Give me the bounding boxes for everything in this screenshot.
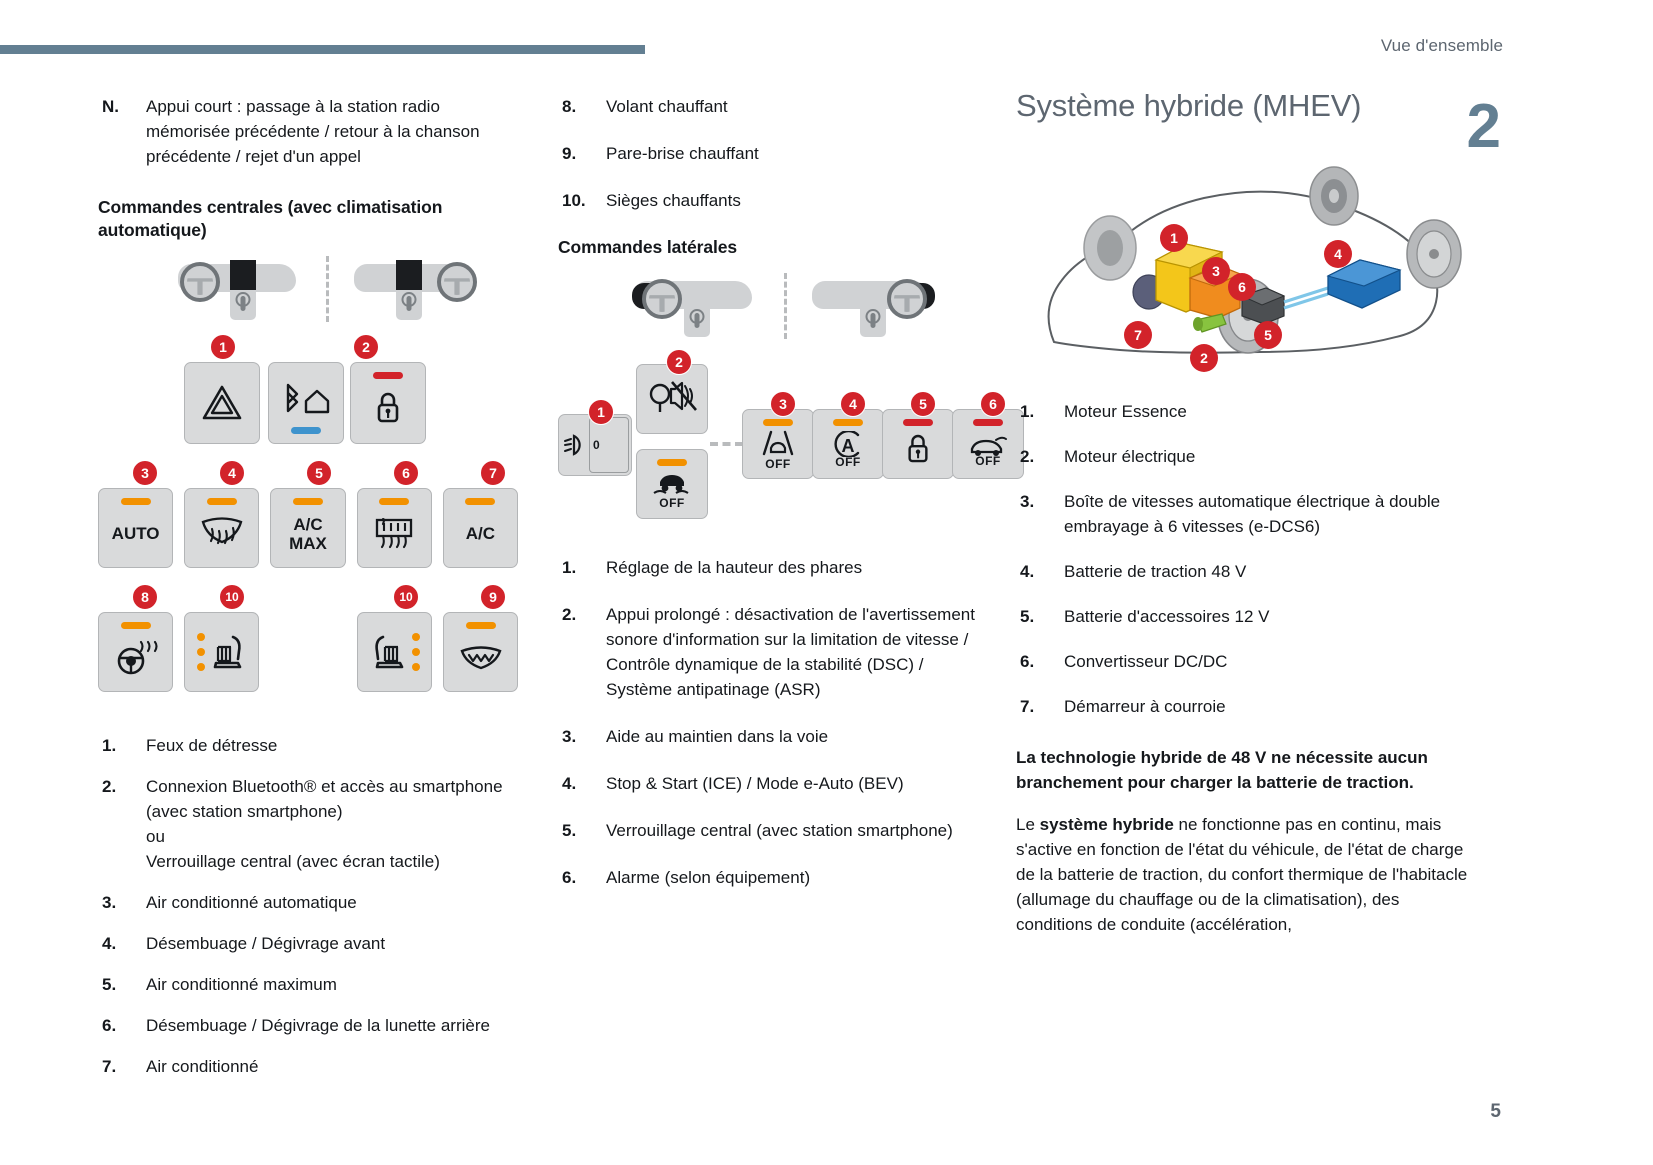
item-text: Démarreur à courroie [1064,695,1471,720]
list-item: 3.Boîte de vitesses automatique électriq… [1016,490,1471,540]
item-text: Batterie de traction 48 V [1064,560,1471,585]
list-item: 1.Feux de détresse [98,734,518,759]
item-text: Boîte de vitesses automatique électrique… [1064,490,1471,540]
seat-level-leds [197,633,205,671]
list-item: 4.Batterie de traction 48 V [1016,560,1471,585]
column-left: N. Appui court : passage à la station ra… [98,95,518,1096]
item-number: 1. [98,734,146,759]
button-led-orange [379,498,409,505]
item-text: Appui prolongé : désactivation de l'aver… [606,603,983,703]
header-accent-bar [0,45,645,54]
central-buttons-row-2: 3 AUTO 4 5 A/CMAX 6 [98,460,518,568]
item-text: Pare-brise chauffant [606,142,983,167]
button-led-orange [763,419,793,426]
item-number: 8. [558,95,606,120]
callout-8: 8 [132,584,158,610]
stop-start-off-icon: A [831,431,865,457]
item-number: 9. [558,142,606,167]
item-number: 4. [1016,560,1064,585]
item-text: Désembuage / Dégivrage de la lunette arr… [146,1014,518,1039]
item-text: Volant chauffant [606,95,983,120]
central-buttons-row-1: 1 2 [184,334,518,444]
button-led-blue [291,427,321,434]
callout-6: 6 [980,391,1006,417]
column-right: Système hybride (MHEV) [1016,88,1471,938]
callout-1: 1 [588,399,614,425]
item-number: 1. [1016,400,1064,425]
item-text: Stop & Start (ICE) / Mode e-Auto (BEV) [606,772,983,797]
ac-label: A/C [466,525,495,542]
header-section-title: Vue d'ensemble [1381,36,1503,56]
callout-3: 3 [132,460,158,486]
heated-steering-wheel-button[interactable] [98,612,173,692]
ac-button[interactable]: A/C [443,488,518,568]
list-item: 5.Air conditionné maximum [98,973,518,998]
list-item: 1.Réglage de la hauteur des phares [558,556,983,581]
speed-limit-warning-mute-button[interactable] [636,364,708,434]
callout-2: 2 [353,334,379,360]
continued-lettered-item: N. Appui court : passage à la station ra… [98,95,518,170]
list-item: 5.Batterie d'accessoires 12 V [1016,605,1471,630]
item-text: Réglage de la hauteur des phares [606,556,983,581]
item-number: 3. [98,891,146,916]
svg-text:A: A [842,436,855,456]
item-marker: N. [98,95,146,170]
callout-3: 3 [770,391,796,417]
callout-5: 5 [910,391,936,417]
list-item: 5.Verrouillage central (avec station sma… [558,819,983,844]
item-number: 2. [558,603,606,703]
callout-4: 4 [219,460,245,486]
svg-text:2: 2 [1200,350,1208,366]
list-item: 7.Démarreur à courroie [1016,695,1471,720]
item-text: Moteur Essence [1064,400,1471,425]
callout-10-left: 10 [219,584,245,610]
list-item: 4.Stop & Start (ICE) / Mode e-Auto (BEV) [558,772,983,797]
chapter-number: 2 [1467,96,1501,158]
item-number: 6. [98,1014,146,1039]
item-number: 2. [1016,445,1064,470]
off-label: OFF [765,457,791,471]
callout-9: 9 [480,584,506,610]
item-text: Air conditionné [146,1055,518,1080]
manual-page: Vue d'ensemble 2 5 N. Appui court : pass… [0,0,1653,1165]
headlamp-height-adjust-icon [563,431,591,459]
column-middle: 8.Volant chauffant 9.Pare-brise chauffan… [558,95,983,913]
item-text: Batterie d'accessoires 12 V [1064,605,1471,630]
callout-5: 5 [306,460,332,486]
callout-6: 6 [393,460,419,486]
hybrid-highlight-paragraph: La technologie hybride de 48 V ne nécess… [1016,746,1471,796]
item-number: 5. [98,973,146,998]
list-item: 9.Pare-brise chauffant [558,142,983,167]
list-item: 2.Connexion Bluetooth® et accès au smart… [98,775,518,875]
heated-windscreen-button[interactable] [443,612,518,692]
item-number: 3. [558,725,606,750]
seat-level-leds [412,633,420,671]
button-led-red [373,372,403,379]
list-item: 6.Désembuage / Dégivrage de la lunette a… [98,1014,518,1039]
item-number: 5. [1016,605,1064,630]
side-controls-legend-list: 1.Réglage de la hauteur des phares 2.App… [558,556,983,891]
heated-seat-right-icon [370,633,408,671]
callout-1: 1 [210,334,236,360]
svg-text:4: 4 [1334,246,1342,262]
item-number: 4. [558,772,606,797]
item-number: 4. [98,932,146,957]
para-bold-term: système hybride [1040,815,1174,834]
ac-max-label: A/CMAX [289,515,327,553]
item-number: 3. [1016,490,1064,540]
central-locking-button-side[interactable] [882,409,954,479]
item-text: Air conditionné automatique [146,891,518,916]
item-number: 10. [558,189,606,214]
page-number: 5 [1490,1101,1501,1123]
dsc-asr-off-button[interactable]: OFF [636,449,708,519]
list-item: 6.Convertisseur DC/DC [1016,650,1471,675]
hazard-warning-button[interactable] [184,362,260,444]
list-item: 3.Aide au maintien dans la voie [558,725,983,750]
central-locking-icon [905,433,931,465]
lhd-dashboard-icon [632,277,757,339]
button-led-orange [466,622,496,629]
button-led-red [903,419,933,426]
para-part-1: Le [1016,815,1040,834]
heated-seat-left-button[interactable] [184,612,259,692]
list-item: 7.Air conditionné [98,1055,518,1080]
item-text: Verrouillage central (avec station smart… [606,819,983,844]
item-text: Alarme (selon équipement) [606,866,983,891]
item-text: Moteur électrique [1064,445,1471,470]
button-led-orange [293,498,323,505]
item-number: 7. [1016,695,1064,720]
bluetooth-smartphone-button[interactable] [268,362,344,444]
list-item: 1.Moteur Essence [1016,400,1471,425]
item-number: 7. [98,1055,146,1080]
speed-limit-warning-mute-icon [647,380,697,418]
auto-label: AUTO [112,525,160,542]
item-number: 6. [1016,650,1064,675]
button-led-orange [121,622,151,629]
hybrid-body-paragraph: Le système hybride ne fonctionne pas en … [1016,813,1471,938]
section-title-side-controls: Commandes latérales [558,236,983,259]
stop-start-off-button[interactable]: A OFF [812,409,884,479]
item-text: Aide au maintien dans la voie [606,725,983,750]
heated-seat-right-button[interactable] [357,612,432,692]
dial-knob[interactable]: 0 [589,417,629,473]
heated-steering-wheel-icon [114,639,158,675]
lane-keep-assist-off-icon [757,430,799,456]
central-buttons-row-3: 8 10 [98,584,518,692]
list-item: 3.Air conditionné automatique [98,891,518,916]
svg-text:6: 6 [1238,279,1246,295]
steering-wheel-diagram-side [632,277,932,339]
button-led-orange [207,498,237,505]
side-controls-buttons: 1 0 2 [558,349,983,534]
svg-text:1: 1 [1170,230,1178,246]
item-text: Sièges chauffants [606,189,983,214]
list-item: 2.Moteur électrique [1016,445,1471,470]
list-item: 6.Alarme (selon équipement) [558,866,983,891]
hybrid-system-vehicle-diagram: 1 2 3 4 5 6 7 [1016,130,1471,390]
item-text: Feux de détresse [146,734,518,759]
rear-demist-icon [373,517,415,549]
item-text: Connexion Bluetooth® et accès au smartph… [146,775,518,875]
steering-wheel-diagram-central [176,260,476,322]
svg-text:7: 7 [1134,327,1142,343]
diagram-divider [326,256,329,322]
central-locking-button[interactable] [350,362,426,444]
off-label: OFF [659,496,685,510]
off-label: OFF [975,454,1001,468]
hazard-warning-icon [201,384,243,422]
item-number: 1. [558,556,606,581]
button-led-orange [465,498,495,505]
alarm-off-button[interactable]: OFF [952,409,1024,479]
svg-text:5: 5 [1264,327,1272,343]
lhd-dashboard-icon [176,260,301,322]
callout-2: 2 [666,349,692,375]
button-led-orange [657,459,687,466]
button-led-orange [121,498,151,505]
button-led-orange [833,419,863,426]
item-text: Appui court : passage à la station radio… [146,95,518,170]
central-locking-icon [374,391,402,425]
item-text: Air conditionné maximum [146,973,518,998]
heated-seat-left-icon [209,633,247,671]
hybrid-system-legend-list: 1.Moteur Essence 2.Moteur électrique 3.B… [1016,400,1471,720]
ac-max-button[interactable]: A/CMAX [270,488,345,568]
rhd-dashboard-icon [352,260,477,322]
item-number: 6. [558,866,606,891]
dial-value: 0 [593,438,600,452]
item-number: 2. [98,775,146,875]
off-label: OFF [835,455,861,469]
callout-7: 7 [480,460,506,486]
callout-10-right: 10 [393,584,419,610]
page-title: Système hybride (MHEV) [1016,88,1471,124]
list-item: 8.Volant chauffant [558,95,983,120]
front-demist-icon [199,516,245,550]
auto-climate-button[interactable]: AUTO [98,488,173,568]
central-controls-legend-continued: 8.Volant chauffant 9.Pare-brise chauffan… [558,95,983,214]
list-item: 2.Appui prolongé : désactivation de l'av… [558,603,983,703]
svg-text:3: 3 [1212,263,1220,279]
list-item: 10.Sièges chauffants [558,189,983,214]
item-number: 5. [558,819,606,844]
list-item: 4.Désembuage / Dégivrage avant [98,932,518,957]
front-demist-button[interactable] [184,488,259,568]
rear-demist-button[interactable] [357,488,432,568]
section-title-central-controls: Commandes centrales (avec climatisation … [98,196,518,242]
heated-windscreen-icon [458,643,504,673]
item-text: Convertisseur DC/DC [1064,650,1471,675]
bluetooth-home-icon [278,381,334,421]
central-controls-legend-list: 1.Feux de détresse 2.Connexion Bluetooth… [98,734,518,1080]
button-led-red [973,419,1003,426]
dsc-asr-off-icon [652,469,692,495]
lane-keep-assist-off-button[interactable]: OFF [742,409,814,479]
diagram-divider [784,273,787,339]
callout-4: 4 [840,391,866,417]
rhd-dashboard-icon [810,277,935,339]
item-text: Désembuage / Dégivrage avant [146,932,518,957]
